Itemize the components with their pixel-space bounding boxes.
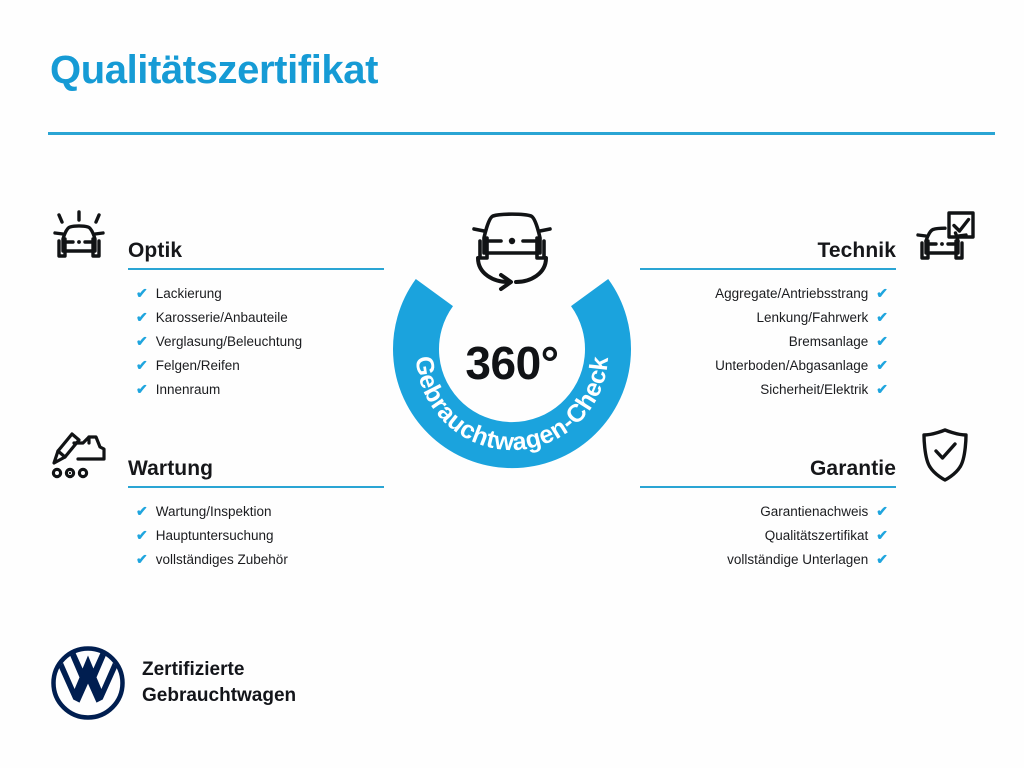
- section-wartung-underline: [128, 486, 384, 488]
- section-garantie-title: Garantie: [640, 457, 896, 486]
- section-optik-underline: [128, 268, 384, 270]
- list-item: Bremsanlage ✔: [640, 330, 980, 354]
- list-item-label: Garantienachweis: [760, 500, 868, 524]
- shield-check-icon: [910, 422, 980, 488]
- check-icon: ✔: [876, 334, 888, 348]
- check-icon: ✔: [876, 528, 888, 542]
- list-item: ✔ vollständiges Zubehör: [44, 548, 384, 572]
- list-item: Qualitätszertifikat ✔: [640, 524, 980, 548]
- list-item: ✔ Innenraum: [44, 378, 384, 402]
- section-wartung-title-wrap: Wartung: [114, 457, 384, 488]
- section-wartung-header: Wartung: [44, 418, 384, 488]
- check-icon: ✔: [876, 286, 888, 300]
- section-optik-header: Optik: [44, 200, 384, 270]
- car-front-shine-icon: [44, 204, 114, 270]
- list-item: Garantienachweis ✔: [640, 500, 980, 524]
- section-technik-title-wrap: Technik: [640, 239, 910, 270]
- check-icon: ✔: [136, 528, 148, 542]
- check-icon: ✔: [876, 552, 888, 566]
- badge-center-label: 360°: [372, 336, 652, 390]
- list-item: ✔ Hauptuntersuchung: [44, 524, 384, 548]
- list-item-label: Aggregate/Antriebsstrang: [715, 282, 868, 306]
- list-item-label: Hauptuntersuchung: [156, 524, 274, 548]
- footer-line-1: Zertifizierte: [142, 657, 296, 683]
- check-icon: ✔: [876, 358, 888, 372]
- car-rotate-360-icon: [456, 196, 568, 300]
- volkswagen-logo: [50, 645, 126, 721]
- list-item: Sicherheit/Elektrik ✔: [640, 378, 980, 402]
- check-icon: ✔: [876, 310, 888, 324]
- section-wartung: Wartung ✔ Wartung/Inspektion ✔ Hauptunte…: [44, 418, 384, 572]
- list-item-label: Unterboden/Abgasanlage: [715, 354, 868, 378]
- certificate-page: Qualitätszertifikat: [0, 0, 1024, 768]
- check-icon: ✔: [136, 334, 148, 348]
- list-item: vollständige Unterlagen ✔: [640, 548, 980, 572]
- list-item-label: Lackierung: [156, 282, 222, 306]
- list-item-label: vollständige Unterlagen: [727, 548, 868, 572]
- check-icon: ✔: [876, 382, 888, 396]
- check-icon: ✔: [136, 504, 148, 518]
- list-item-label: Verglasung/Beleuchtung: [156, 330, 302, 354]
- section-optik-list: ✔ Lackierung ✔ Karosserie/Anbauteile ✔ V…: [44, 282, 384, 402]
- list-item-label: Felgen/Reifen: [156, 354, 240, 378]
- check-icon: ✔: [136, 310, 148, 324]
- section-garantie-title-wrap: Garantie: [640, 457, 910, 488]
- list-item: Unterboden/Abgasanlage ✔: [640, 354, 980, 378]
- check-icon: ✔: [136, 382, 148, 396]
- section-technik-header: Technik: [640, 200, 980, 270]
- header-divider: [48, 132, 995, 135]
- section-garantie-header: Garantie: [640, 418, 980, 488]
- section-optik-title-wrap: Optik: [114, 239, 384, 270]
- section-technik: Technik: [640, 200, 980, 402]
- page-title: Qualitätszertifikat: [50, 48, 378, 92]
- list-item: ✔ Karosserie/Anbauteile: [44, 306, 384, 330]
- section-technik-underline: [640, 268, 896, 270]
- list-item-label: Lenkung/Fahrwerk: [756, 306, 868, 330]
- list-item-label: Wartung/Inspektion: [156, 500, 272, 524]
- footer-brand: Zertifizierte Gebrauchtwagen: [50, 645, 296, 721]
- list-item: ✔ Felgen/Reifen: [44, 354, 384, 378]
- pen-service-car-icon: [44, 422, 114, 488]
- car-front-checkbox-icon: [910, 204, 980, 270]
- check-icon: ✔: [876, 504, 888, 518]
- list-item: Aggregate/Antriebsstrang ✔: [640, 282, 980, 306]
- section-wartung-list: ✔ Wartung/Inspektion ✔ Hauptuntersuchung…: [44, 500, 384, 572]
- list-item-label: Sicherheit/Elektrik: [760, 378, 868, 402]
- list-item: Lenkung/Fahrwerk ✔: [640, 306, 980, 330]
- check-icon: ✔: [136, 358, 148, 372]
- section-garantie: Garantie Garantienachweis ✔ Qualitätszer…: [640, 418, 980, 572]
- section-technik-list: Aggregate/Antriebsstrang ✔ Lenkung/Fahrw…: [640, 282, 980, 402]
- section-optik-title: Optik: [128, 239, 384, 268]
- list-item-label: Innenraum: [156, 378, 221, 402]
- list-item-label: vollständiges Zubehör: [156, 548, 288, 572]
- list-item-label: Bremsanlage: [789, 330, 869, 354]
- list-item: ✔ Verglasung/Beleuchtung: [44, 330, 384, 354]
- list-item: ✔ Lackierung: [44, 282, 384, 306]
- footer-text: Zertifizierte Gebrauchtwagen: [142, 657, 296, 709]
- badge-360-gebrauchtwagen-check: Gebrauchtwagen-Check 360°: [372, 188, 652, 488]
- section-wartung-title: Wartung: [128, 457, 384, 486]
- section-garantie-underline: [640, 486, 896, 488]
- list-item-label: Qualitätszertifikat: [765, 524, 869, 548]
- check-icon: ✔: [136, 552, 148, 566]
- list-item: ✔ Wartung/Inspektion: [44, 500, 384, 524]
- section-optik: Optik ✔ Lackierung ✔ Karosserie/Anbautei…: [44, 200, 384, 402]
- section-garantie-list: Garantienachweis ✔ Qualitätszertifikat ✔…: [640, 500, 980, 572]
- check-icon: ✔: [136, 286, 148, 300]
- list-item-label: Karosserie/Anbauteile: [156, 306, 288, 330]
- section-technik-title: Technik: [640, 239, 896, 268]
- footer-line-2: Gebrauchtwagen: [142, 683, 296, 709]
